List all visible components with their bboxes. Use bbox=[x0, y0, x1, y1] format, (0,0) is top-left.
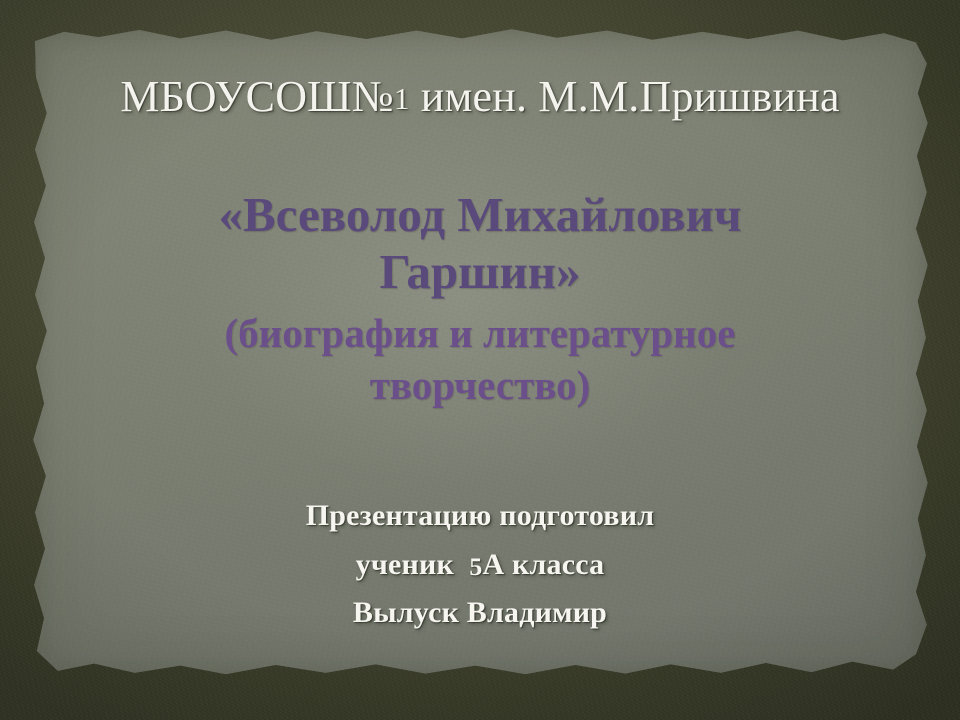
presentation-slide: МБОУСОШ№1 имен. М.М.Пришвина «Всеволод М… bbox=[0, 0, 960, 720]
credits-line-3: Вылуск Владимир bbox=[0, 589, 960, 638]
school-name-number: 1 bbox=[394, 82, 410, 116]
school-name-prefix: МБОУСОШ№ bbox=[120, 72, 394, 121]
author-credits: Презентацию подготовил ученик 5А класса … bbox=[0, 492, 960, 638]
credits-class-prefix: ученик bbox=[356, 548, 470, 581]
school-name-suffix: имен. М.М.Пришвина bbox=[410, 72, 840, 121]
credits-line-2: ученик 5А класса bbox=[0, 541, 960, 590]
main-heading-line-2: Гаршин» bbox=[90, 243, 870, 300]
main-heading-line-1: «Всеволод Михайлович bbox=[90, 186, 870, 243]
school-name-title: МБОУСОШ№1 имен. М.М.Пришвина bbox=[0, 74, 960, 120]
credits-line-1: Презентацию подготовил bbox=[0, 492, 960, 541]
subheading-line-1: (биография и литературное bbox=[90, 307, 870, 359]
main-heading: «Всеволод Михайлович Гаршин» bbox=[90, 186, 870, 301]
credits-class-suffix: А класса bbox=[482, 548, 604, 581]
subheading-line-2: творчество) bbox=[90, 359, 870, 411]
title-block: «Всеволод Михайлович Гаршин» (биография … bbox=[90, 186, 870, 412]
slide-content: МБОУСОШ№1 имен. М.М.Пришвина «Всеволод М… bbox=[0, 0, 960, 720]
subheading: (биография и литературное творчество) bbox=[90, 307, 870, 412]
credits-class-number: 5 bbox=[469, 551, 482, 580]
